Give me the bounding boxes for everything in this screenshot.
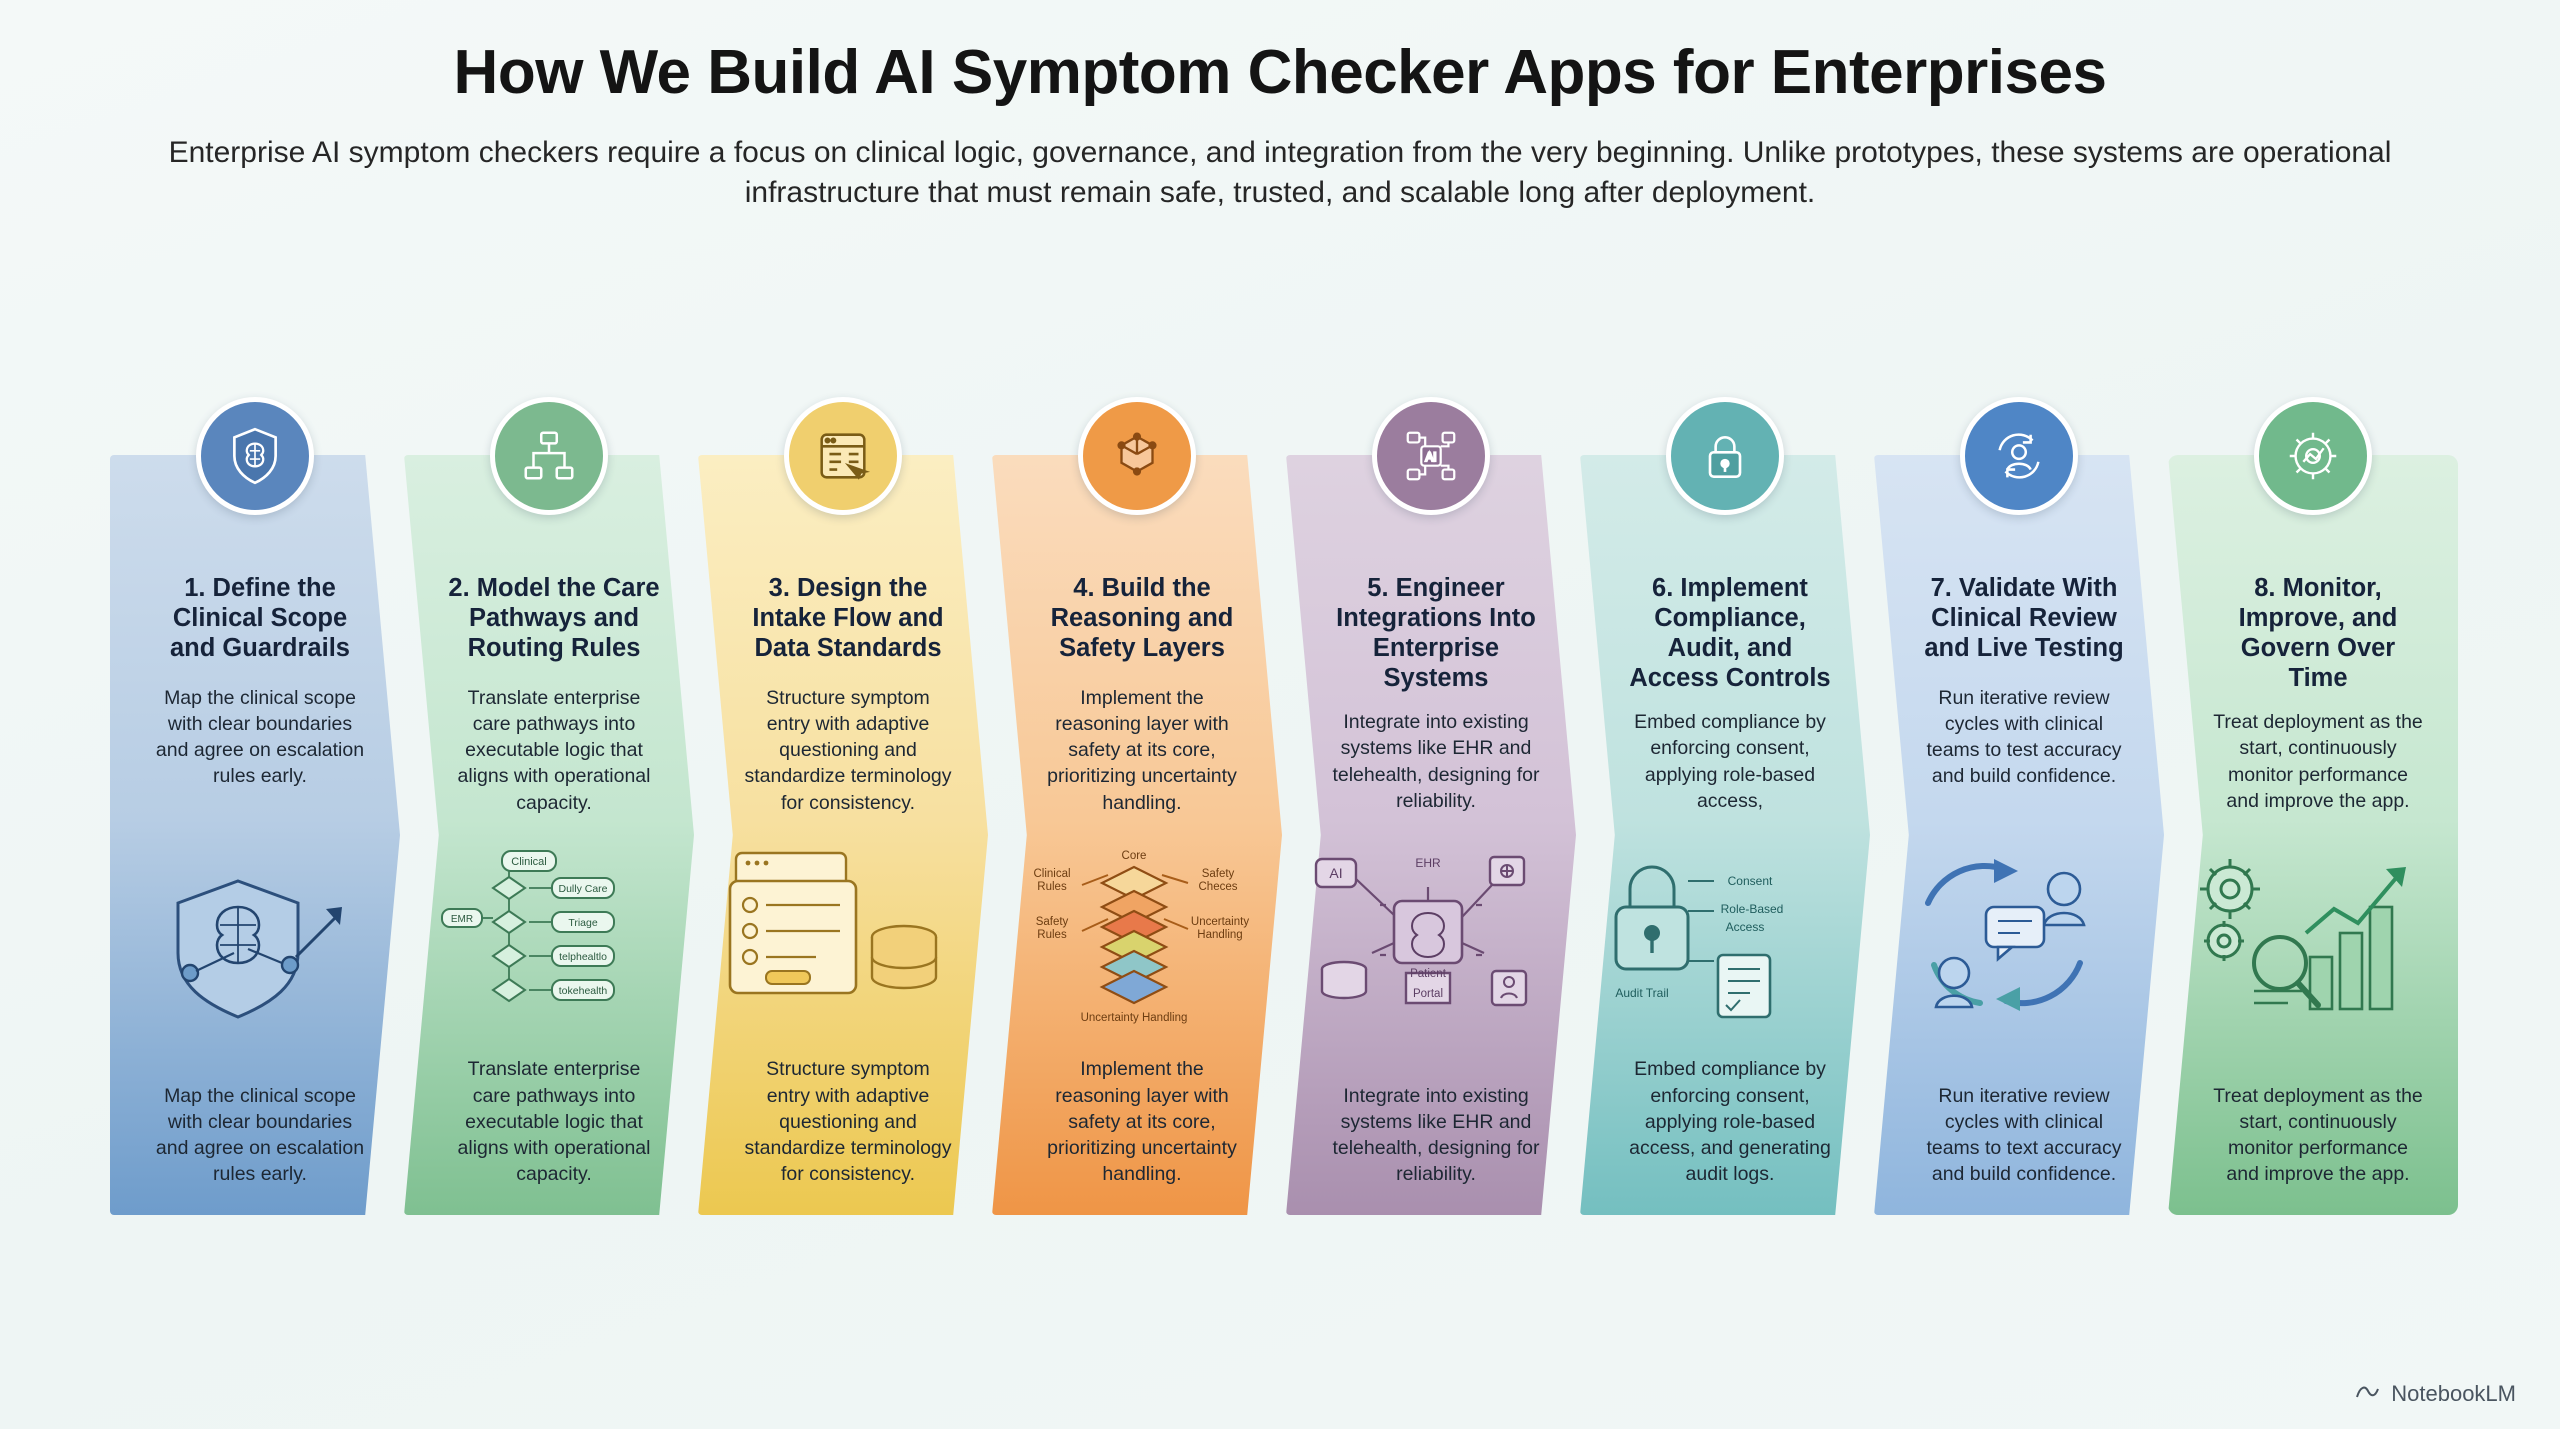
- step-4-desc: Implement the reasoning layer with safet…: [1036, 685, 1248, 816]
- step-6[interactable]: 6. Implement Compliance, Audit, and Acce…: [1580, 455, 1870, 1215]
- svg-text:Core: Core: [1122, 850, 1147, 862]
- svg-text:EHR: EHR: [1415, 856, 1441, 870]
- svg-text:Portal: Portal: [1413, 988, 1443, 1000]
- step-7-desc: Run iterative review cycles with clinica…: [1918, 685, 2130, 790]
- svg-text:Dully Care: Dully Care: [558, 883, 607, 895]
- step-3-title: 3. Design the Intake Flow and Data Stand…: [742, 573, 954, 669]
- svg-text:Audit Trail: Audit Trail: [1615, 986, 1668, 1000]
- svg-text:Uncertainty: Uncertainty: [1191, 916, 1249, 928]
- step-1-footer: Map the clinical scope with clear bounda…: [154, 1083, 366, 1188]
- step-1-title: 1. Define the Clinical Scope and Guardra…: [154, 573, 366, 669]
- form-cursor-icon: [784, 397, 902, 515]
- svg-text:Consent: Consent: [1728, 874, 1773, 888]
- svg-text:Access: Access: [1726, 920, 1765, 934]
- svg-text:Handling: Handling: [1197, 929, 1242, 941]
- layered-stack-illustration: Core Clinical Rules Safety Checes Safety…: [1012, 845, 1262, 1035]
- svg-text:Uncertainty Handling: Uncertainty Handling: [1081, 1012, 1188, 1024]
- step-3-footer: Structure symptom entry with adaptive qu…: [742, 1056, 954, 1187]
- step-2-footer: Translate enterprise care pathways into …: [448, 1056, 660, 1187]
- step-7-footer: Run iterative review cycles with clinica…: [1918, 1083, 2130, 1188]
- step-5-desc: Integrate into existing systems like EHR…: [1330, 709, 1542, 814]
- gears-growth-chart-illustration: [2188, 845, 2438, 1035]
- svg-text:Clinical: Clinical: [511, 856, 546, 868]
- svg-text:AI: AI: [1329, 865, 1342, 881]
- step-8-desc: Treat deployment as the start, continuou…: [2212, 709, 2424, 814]
- step-3[interactable]: 3. Design the Intake Flow and Data Stand…: [698, 455, 988, 1215]
- step-5-title: 5. Engineer Integrations Into Enterprise…: [1330, 573, 1542, 693]
- process-flow: 1. Define the Clinical Scope and Guardra…: [110, 455, 2460, 1235]
- svg-text:tokehealth: tokehealth: [559, 985, 608, 997]
- shield-brain-icon: [196, 397, 314, 515]
- clinician-review-cycle-illustration: [1894, 845, 2144, 1035]
- svg-text:Checes: Checes: [1199, 881, 1238, 893]
- user-refresh-icon: [1960, 397, 2078, 515]
- step-2-desc: Translate enterprise care pathways into …: [448, 685, 660, 816]
- notebooklm-icon: [2355, 1381, 2381, 1407]
- step-8[interactable]: 8. Monitor, Improve, and Govern Over Tim…: [2168, 455, 2458, 1215]
- flowchart-icon: [490, 397, 608, 515]
- step-3-desc: Structure symptom entry with adaptive qu…: [742, 685, 954, 816]
- svg-text:Role-Based: Role-Based: [1721, 902, 1784, 916]
- gear-chart-icon: [2254, 397, 2372, 515]
- step-5-footer: Integrate into existing systems like EHR…: [1330, 1083, 1542, 1188]
- cube-network-icon: [1078, 397, 1196, 515]
- svg-text:AI: AI: [1426, 451, 1437, 464]
- step-4-footer: Implement the reasoning layer with safet…: [1036, 1056, 1248, 1187]
- svg-text:Rules: Rules: [1037, 929, 1067, 941]
- step-4[interactable]: 4. Build the Reasoning and Safety Layers…: [992, 455, 1282, 1215]
- integration-chip-illustration: AI EHR: [1306, 845, 1556, 1035]
- svg-text:Patient: Patient: [1410, 968, 1447, 980]
- decision-tree-illustration: Clinical EMR: [424, 845, 674, 1035]
- page-title: How We Build AI Symptom Checker Apps for…: [120, 40, 2440, 107]
- step-4-title: 4. Build the Reasoning and Safety Layers: [1036, 573, 1248, 669]
- svg-text:EMR: EMR: [451, 914, 473, 925]
- step-6-desc: Embed compliance by enforcing consent, a…: [1624, 709, 1836, 814]
- step-7[interactable]: 7. Validate With Clinical Review and Liv…: [1874, 455, 2164, 1215]
- step-1[interactable]: 1. Define the Clinical Scope and Guardra…: [110, 455, 400, 1215]
- step-6-footer: Embed compliance by enforcing consent, a…: [1624, 1056, 1836, 1187]
- svg-text:Triage: Triage: [568, 917, 598, 929]
- form-database-illustration: [718, 845, 968, 1035]
- step-2-title: 2. Model the Care Pathways and Routing R…: [448, 573, 660, 669]
- step-6-title: 6. Implement Compliance, Audit, and Acce…: [1624, 573, 1836, 693]
- svg-text:telphealtlo: telphealtlo: [559, 951, 607, 963]
- svg-text:Safety: Safety: [1036, 916, 1069, 928]
- step-5[interactable]: AI 5. Engineer Integrations Into Enterpr…: [1286, 455, 1576, 1215]
- brand-label: NotebookLM: [2391, 1381, 2516, 1407]
- svg-text:Rules: Rules: [1037, 881, 1067, 893]
- brand-footer: NotebookLM: [2355, 1381, 2516, 1407]
- step-8-footer: Treat deployment as the start, continuou…: [2212, 1083, 2424, 1188]
- infographic-page: How We Build AI Symptom Checker Apps for…: [0, 0, 2560, 1429]
- step-2[interactable]: 2. Model the Care Pathways and Routing R…: [404, 455, 694, 1215]
- lock-icon: [1666, 397, 1784, 515]
- svg-text:Safety: Safety: [1202, 868, 1235, 880]
- step-7-title: 7. Validate With Clinical Review and Liv…: [1918, 573, 2130, 669]
- svg-text:Clinical: Clinical: [1033, 868, 1070, 880]
- step-1-desc: Map the clinical scope with clear bounda…: [154, 685, 366, 790]
- padlock-audit-illustration: Consent Role-Based Access Audit Trail: [1600, 845, 1850, 1035]
- step-8-title: 8. Monitor, Improve, and Govern Over Tim…: [2212, 573, 2424, 693]
- ai-chip-icon: AI: [1372, 397, 1490, 515]
- header: How We Build AI Symptom Checker Apps for…: [0, 0, 2560, 214]
- page-subtitle: Enterprise AI symptom checkers require a…: [165, 133, 2395, 214]
- shield-brain-network-illustration: [130, 845, 380, 1035]
